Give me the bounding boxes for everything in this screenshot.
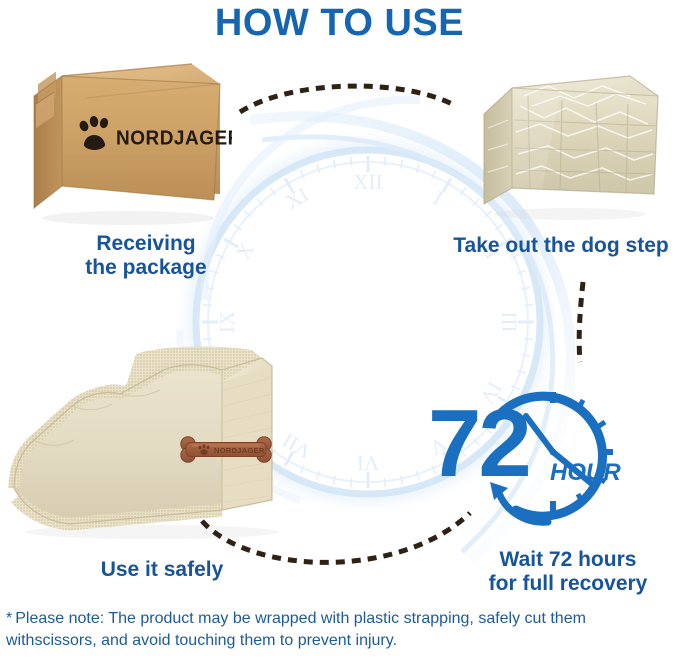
step-caption-wait-recovery: Wait 72 hours for full recovery	[462, 548, 674, 596]
plastic-wrapped-product-illustration	[470, 62, 670, 222]
svg-text:VI: VI	[357, 451, 379, 475]
svg-text:NORDJAGER: NORDJAGER	[116, 127, 232, 150]
svg-text:XII: XII	[353, 170, 382, 194]
step-caption-receiving: Receiving the package	[56, 232, 236, 280]
cardboard-box-illustration: NORDJAGER	[24, 58, 232, 226]
caption-line: Wait 72 hours	[462, 548, 674, 572]
footnote: *Please note: The product may be wrapped…	[6, 608, 674, 652]
caption-line: the package	[56, 256, 236, 280]
svg-text:XI: XI	[281, 182, 312, 214]
caption-line: for full recovery	[462, 572, 674, 596]
footnote-text: Please note: The product may be wrapped …	[6, 610, 586, 649]
dog-step-illustration: NORDJAGER	[8, 336, 296, 544]
step-caption-take-out: Take out the dog step	[443, 234, 679, 258]
caption-line: Receiving	[56, 232, 236, 256]
how-to-use-infographic: XII I II III IV V VI VII VIII IX X XI HO…	[0, 0, 679, 659]
svg-text:IX: IX	[215, 311, 239, 333]
caption-line: Use it safely	[62, 558, 262, 582]
svg-text:III: III	[497, 312, 521, 333]
svg-text:I: I	[429, 186, 447, 210]
footnote-marker: *	[6, 610, 12, 627]
svg-text:NORDJAGER: NORDJAGER	[214, 446, 265, 455]
page-title: HOW TO USE	[0, 2, 679, 45]
caption-line: Take out the dog step	[443, 234, 679, 258]
connector-wrapped-to-clock	[579, 282, 583, 362]
clock-center-dot	[550, 449, 557, 456]
step-caption-use-safely: Use it safely	[62, 558, 262, 582]
connector-box-to-wrapped	[240, 86, 452, 112]
72-hour-clock-illustration: 72 HOUR	[420, 358, 670, 548]
